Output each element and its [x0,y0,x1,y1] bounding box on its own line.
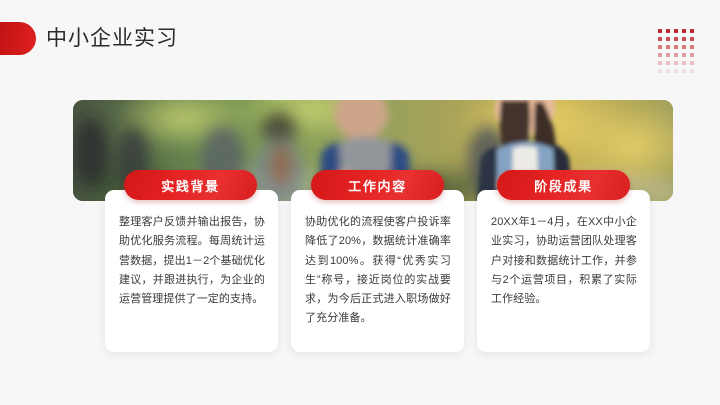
dot-grid-decoration [656,27,696,75]
content-card-2: 协助优化的流程使客户投诉率降低了20%，数据统计准确率达到100%。获得“优秀实… [291,190,464,352]
card-3-body: 20XX年1－4月，在XX中小企业实习，协助运营团队处理客户对接和数据统计工作，… [491,213,637,309]
card-2-label-pill[interactable]: 工作内容 [311,170,444,200]
card-1-label: 实践背景 [161,176,219,195]
card-3-label-pill[interactable]: 阶段成果 [497,170,630,200]
card-1-body: 整理客户反馈并输出报告，协助优化服务流程。每周统计运营数据，提出1－2个基础优化… [119,213,265,309]
card-2-label: 工作内容 [348,176,406,195]
header-accent-shape [0,22,36,55]
content-card-3: 20XX年1－4月，在XX中小企业实习，协助运营团队处理客户对接和数据统计工作，… [477,190,650,352]
card-2-body: 协助优化的流程使客户投诉率降低了20%，数据统计准确率达到100%。获得“优秀实… [305,213,451,329]
card-1-label-pill[interactable]: 实践背景 [124,170,257,200]
card-3-label: 阶段成果 [534,176,592,195]
slide: 中小企业实习 [0,0,720,405]
content-card-1: 整理客户反馈并输出报告，协助优化服务流程。每周统计运营数据，提出1－2个基础优化… [105,190,278,352]
page-title: 中小企业实习 [46,25,178,53]
